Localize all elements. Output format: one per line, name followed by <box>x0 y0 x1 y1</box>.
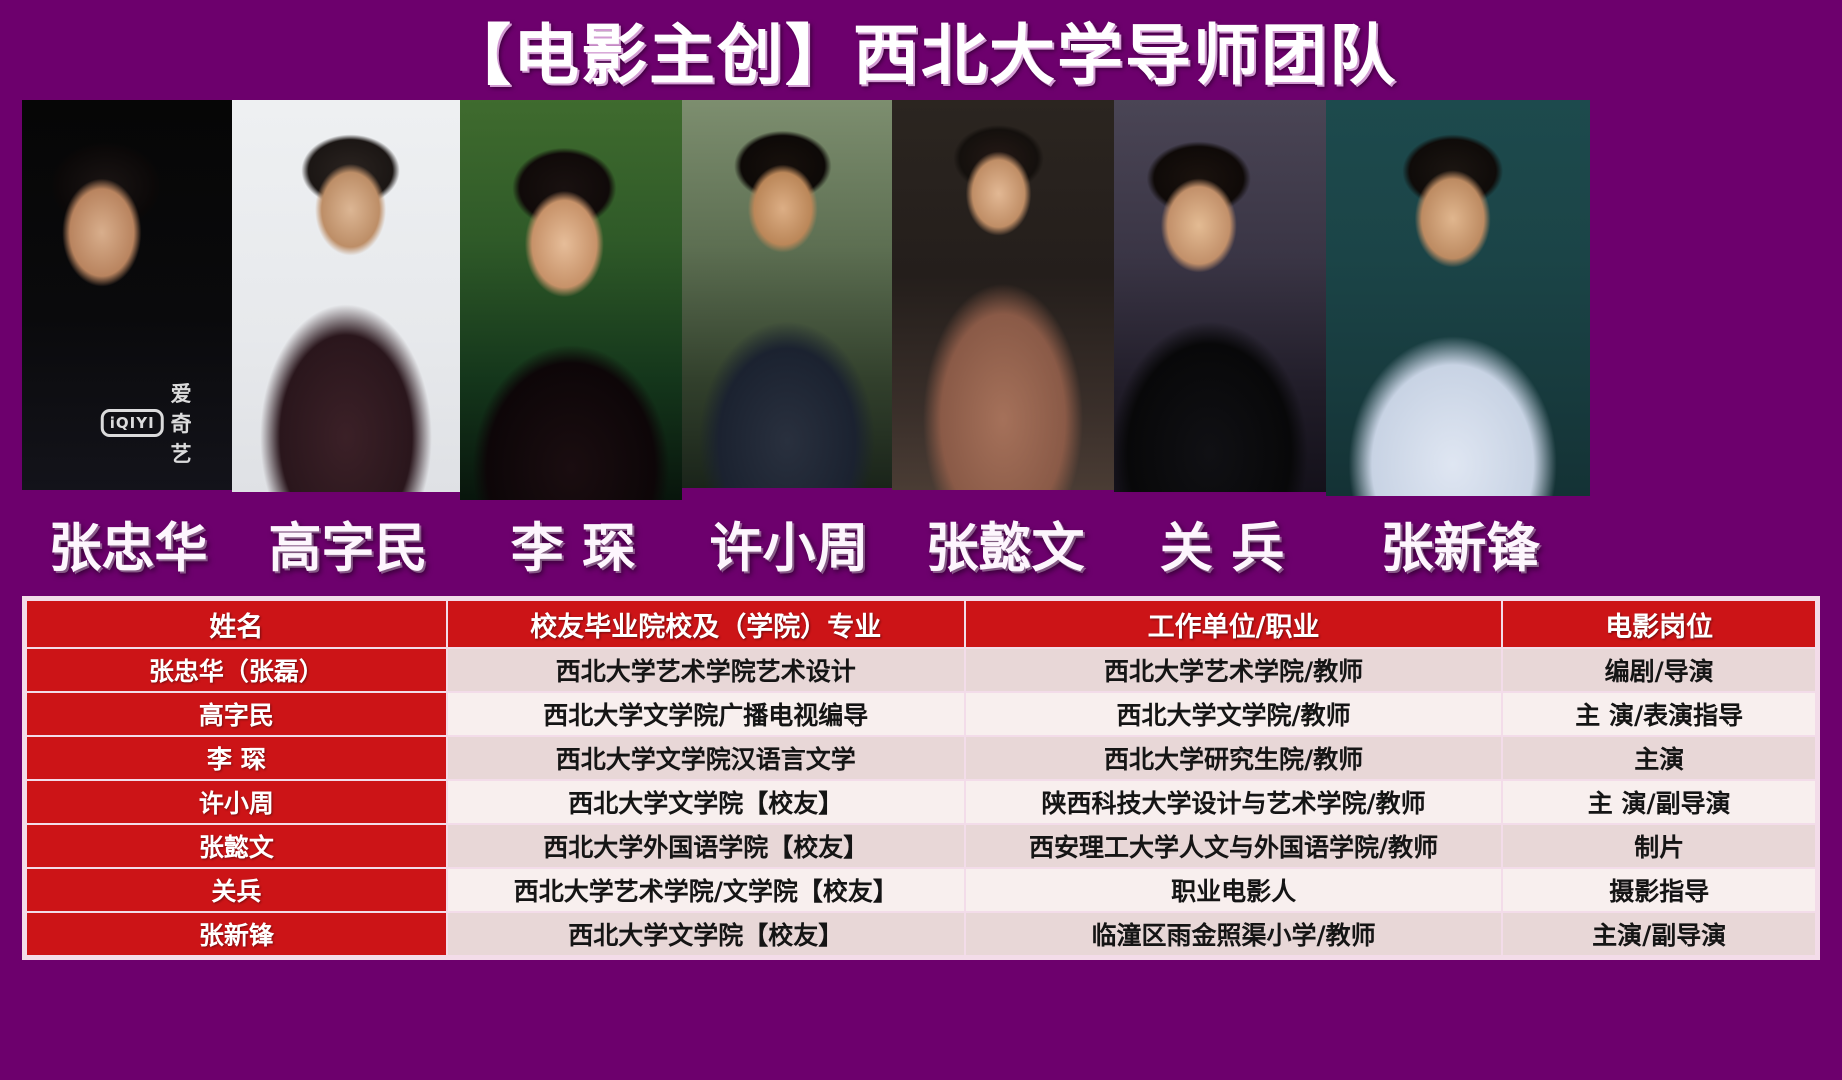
cell-work: 职业电影人 <box>966 869 1502 911</box>
cell-role: 摄影指导 <box>1503 869 1815 911</box>
cell-school: 西北大学艺术学院艺术设计 <box>448 649 964 691</box>
cell-name: 李 琛 <box>27 737 446 779</box>
iqiyi-brand-text: 爱奇艺 <box>171 378 206 468</box>
table-header-row: 姓名 校友毕业院校及（学院）专业 工作单位/职业 电影岗位 <box>27 601 1815 647</box>
portrait-gao-zimin <box>232 100 460 492</box>
table-row: 张懿文 西北大学外国语学院【校友】 西安理工大学人文与外国语学院/教师 制片 <box>27 825 1815 867</box>
cell-role: 编剧/导演 <box>1503 649 1815 691</box>
column-header-role: 电影岗位 <box>1503 601 1815 647</box>
name-label-7: 张新锋 <box>1328 506 1592 582</box>
cell-name: 张懿文 <box>27 825 446 867</box>
table-row: 关兵 西北大学艺术学院/文学院【校友】 职业电影人 摄影指导 <box>27 869 1815 911</box>
cell-work: 西北大学艺术学院/教师 <box>966 649 1502 691</box>
column-header-work: 工作单位/职业 <box>966 601 1502 647</box>
portrait-zhang-yiwen <box>892 100 1114 490</box>
cell-name: 高字民 <box>27 693 446 735</box>
portrait-zhang-zhonghua: iQIYI 爱奇艺 <box>22 100 232 490</box>
column-header-school: 校友毕业院校及（学院）专业 <box>448 601 964 647</box>
iqiyi-logo-icon: iQIYI <box>101 409 164 437</box>
table-row: 张新锋 西北大学文学院【校友】 临潼区雨金照渠小学/教师 主演/副导演 <box>27 913 1815 955</box>
page-header: 【电影主创】西北大学导师团队 <box>0 0 1842 100</box>
name-label-1: 张忠华 <box>22 506 234 582</box>
cell-school: 西北大学文学院广播电视编导 <box>448 693 964 735</box>
cell-name: 张忠华（张磊） <box>27 649 446 691</box>
names-row: 张忠华 高字民 李 琛 许小周 张懿文 关 兵 张新锋 <box>22 500 1820 588</box>
name-label-2: 高字民 <box>234 506 462 582</box>
cell-school: 西北大学外国语学院【校友】 <box>448 825 964 867</box>
cell-school: 西北大学文学院汉语言文学 <box>448 737 964 779</box>
portrait-li-chen <box>460 100 682 500</box>
name-label-6: 关 兵 <box>1116 506 1328 582</box>
cell-work: 西北大学研究生院/教师 <box>966 737 1502 779</box>
cell-role: 主演/副导演 <box>1503 913 1815 955</box>
table-row: 高字民 西北大学文学院广播电视编导 西北大学文学院/教师 主 演/表演指导 <box>27 693 1815 735</box>
cell-name: 关兵 <box>27 869 446 911</box>
roster-table-container: 姓名 校友毕业院校及（学院）专业 工作单位/职业 电影岗位 张忠华（张磊） 西北… <box>22 596 1820 960</box>
cell-name: 许小周 <box>27 781 446 823</box>
portrait-zhang-xinfeng <box>1326 100 1590 496</box>
iqiyi-watermark: iQIYI 爱奇艺 <box>101 378 206 468</box>
cell-school: 西北大学艺术学院/文学院【校友】 <box>448 869 964 911</box>
cell-school: 西北大学文学院【校友】 <box>448 913 964 955</box>
name-label-4: 许小周 <box>684 506 894 582</box>
cell-name: 张新锋 <box>27 913 446 955</box>
cell-work: 西北大学文学院/教师 <box>966 693 1502 735</box>
name-label-5: 张懿文 <box>894 506 1116 582</box>
cell-role: 制片 <box>1503 825 1815 867</box>
cell-role: 主 演/副导演 <box>1503 781 1815 823</box>
roster-table: 姓名 校友毕业院校及（学院）专业 工作单位/职业 电影岗位 张忠华（张磊） 西北… <box>25 599 1817 957</box>
portrait-guan-bing <box>1114 100 1326 492</box>
portrait-strip: iQIYI 爱奇艺 <box>22 100 1820 500</box>
cell-work: 西安理工大学人文与外国语学院/教师 <box>966 825 1502 867</box>
portrait-xu-xiaozhou <box>682 100 892 488</box>
table-row: 张忠华（张磊） 西北大学艺术学院艺术设计 西北大学艺术学院/教师 编剧/导演 <box>27 649 1815 691</box>
table-row: 许小周 西北大学文学院【校友】 陕西科技大学设计与艺术学院/教师 主 演/副导演 <box>27 781 1815 823</box>
page-title: 【电影主创】西北大学导师团队 <box>445 2 1397 98</box>
cell-work: 陕西科技大学设计与艺术学院/教师 <box>966 781 1502 823</box>
column-header-name: 姓名 <box>27 601 446 647</box>
cell-school: 西北大学文学院【校友】 <box>448 781 964 823</box>
cell-work: 临潼区雨金照渠小学/教师 <box>966 913 1502 955</box>
cell-role: 主演 <box>1503 737 1815 779</box>
name-label-3: 李 琛 <box>462 506 684 582</box>
table-row: 李 琛 西北大学文学院汉语言文学 西北大学研究生院/教师 主演 <box>27 737 1815 779</box>
cell-role: 主 演/表演指导 <box>1503 693 1815 735</box>
